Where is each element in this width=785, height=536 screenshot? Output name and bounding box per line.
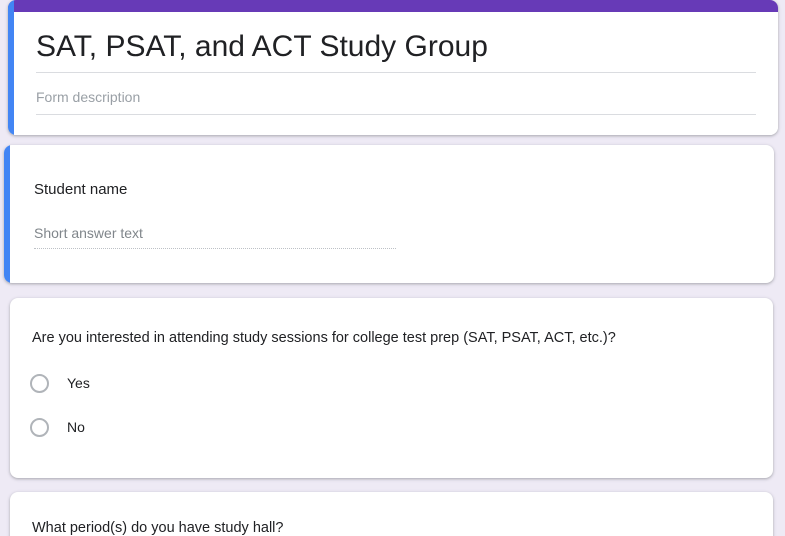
option-label[interactable]: Yes (67, 373, 90, 393)
radio-unchecked-icon[interactable] (30, 418, 49, 437)
option-row-no[interactable]: No (30, 417, 749, 437)
question-title-input[interactable]: Are you interested in attending study se… (32, 328, 749, 349)
question-card-body: What period(s) do you have study hall? (10, 492, 773, 536)
question-card-student-name[interactable]: Student name Short answer text (4, 145, 774, 283)
form-title-input[interactable]: SAT, PSAT, and ACT Study Group (36, 28, 756, 73)
google-forms-editor-canvas: SAT, PSAT, and ACT Study Group Form desc… (0, 0, 785, 536)
question-title-input[interactable]: What period(s) do you have study hall? (32, 518, 749, 536)
option-label[interactable]: No (67, 417, 85, 437)
form-description-input[interactable]: Form description (36, 87, 756, 115)
question-card-body: Are you interested in attending study se… (10, 298, 773, 437)
form-header-card[interactable]: SAT, PSAT, and ACT Study Group Form desc… (8, 0, 778, 135)
option-row-yes[interactable]: Yes (30, 373, 749, 393)
form-header-body: SAT, PSAT, and ACT Study Group Form desc… (14, 12, 778, 135)
question-card-study-hall[interactable]: What period(s) do you have study hall? (10, 492, 773, 536)
question-card-study-sessions[interactable]: Are you interested in attending study se… (10, 298, 773, 478)
short-answer-placeholder: Short answer text (34, 223, 396, 249)
form-theme-color-bar (8, 0, 778, 12)
question-title-input[interactable]: Student name (34, 179, 750, 201)
question-card-body: Student name Short answer text (10, 145, 774, 283)
radio-unchecked-icon[interactable] (30, 374, 49, 393)
